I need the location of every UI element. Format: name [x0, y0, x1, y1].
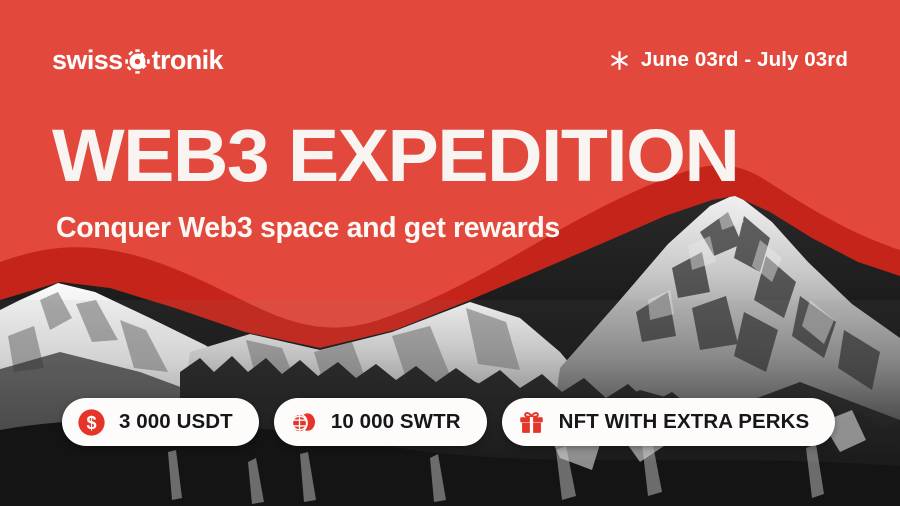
page-title: WEB3 EXPEDITION [52, 122, 900, 191]
logo-text-right: tronik [152, 47, 223, 74]
asterisk-icon [609, 50, 630, 71]
hero-text-block: WEB3 EXPEDITION Conquer Web3 space and g… [52, 122, 872, 244]
reward-pill-usdt[interactable]: $ 3 000 USDT [62, 398, 259, 446]
reward-pill-nft[interactable]: NFT WITH EXTRA PERKS [502, 398, 836, 446]
promo-banner: swiss tronik June 0 [0, 0, 900, 506]
date-range-label: June 03rd - July 03rd [641, 48, 848, 72]
rewards-list: $ 3 000 USDT 10 000 [62, 398, 835, 446]
token-coins-icon [289, 408, 318, 437]
logo-text-left: swiss [52, 47, 123, 74]
page-subtitle: Conquer Web3 space and get rewards [56, 213, 872, 244]
svg-text:$: $ [86, 413, 96, 433]
date-range: June 03rd - July 03rd [609, 48, 848, 72]
dollar-coin-icon: $ [77, 408, 106, 437]
reward-pill-label: 10 000 SWTR [331, 412, 461, 433]
banner-header: swiss tronik June 0 [0, 0, 900, 120]
reward-pill-label: NFT WITH EXTRA PERKS [559, 412, 810, 433]
gift-icon [517, 408, 546, 437]
reward-pill-swtr[interactable]: 10 000 SWTR [274, 398, 487, 446]
gear-icon [124, 48, 151, 75]
reward-pill-label: 3 000 USDT [119, 412, 233, 433]
swisstronik-logo: swiss tronik [52, 47, 223, 74]
